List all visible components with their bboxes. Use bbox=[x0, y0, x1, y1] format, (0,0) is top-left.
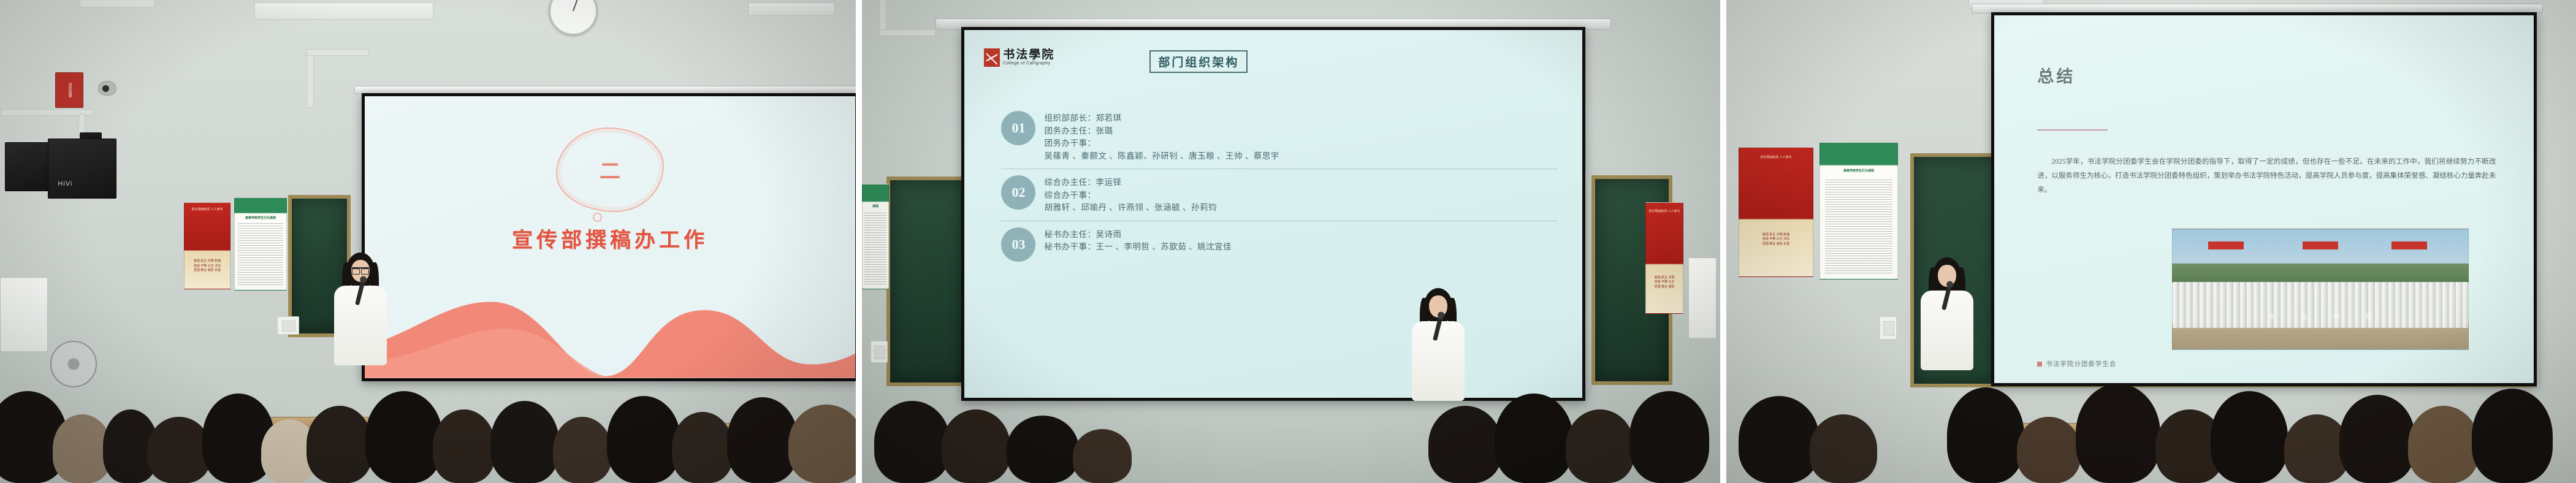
section-lines: 综合办主任：李运铎 综合办干事： 胡雅轩 、邱瑜丹 、许燕翎 、张涵毓 、孙莉钧 bbox=[1044, 175, 1557, 215]
poster-student-code: 高等学校学生行为准则 bbox=[1820, 142, 1898, 280]
org-section-03: 03 秘书办主任：吴诗雨 秘书办干事：王一 、李明哲 、苏歆茹 、姚沈宜佳 bbox=[1001, 227, 1557, 262]
audience-head bbox=[2017, 417, 2081, 483]
audience-head bbox=[942, 409, 1010, 483]
projection-screen-frame: 二 宣传部撰稿办工作 bbox=[362, 93, 856, 381]
bubble-tail bbox=[593, 213, 602, 222]
section-number: 02 bbox=[1001, 175, 1035, 210]
audience-head bbox=[553, 417, 612, 483]
light-switch bbox=[1880, 316, 1897, 340]
fire-alarm-box: 消防报警 bbox=[55, 72, 83, 108]
section-line: 综合办干事： bbox=[1044, 189, 1557, 202]
photo-triptych: 消防报警 HiVi 讲文明树新风 人人参与 社会主义 富强 民主 文明 和谐自由… bbox=[0, 0, 2576, 483]
wall-speaker-hivi: HiVi bbox=[48, 139, 116, 199]
slide-3: 总结 2025学年，书法学院分团委学生会在学院分团委的指导下，取得了一定的成绩，… bbox=[1994, 15, 2534, 383]
audience-head bbox=[2472, 389, 2553, 483]
poster-student-code: 准则 bbox=[862, 184, 889, 289]
poster-body bbox=[1825, 180, 1893, 273]
panel-center: 准则 讲文明树新风 人人参与 社会主义 富强 民主 文明自由 平等 公正爱国 敬… bbox=[862, 0, 1720, 483]
poster-heading: 准则 bbox=[863, 204, 888, 208]
audience-head bbox=[2211, 391, 2288, 483]
section-line: 综合办主任：李运铎 bbox=[1044, 177, 1557, 189]
section-lines: 组织部部长：郑若琪 团务办主任：张璐 团务办干事： 吴篠青 、秦颢文 、陈鑫颖、… bbox=[1044, 111, 1557, 162]
audience-head bbox=[727, 397, 798, 483]
poster-values: 富强 民主 文明 和谐自由 平等 公正 法治爱国 敬业 诚信 友善 bbox=[185, 259, 230, 273]
poster-top-text: 讲文明树新风 人人参与 bbox=[1739, 156, 1813, 159]
presenter-panel-1 bbox=[324, 253, 397, 375]
slide-title: 部门组织架构 bbox=[1149, 50, 1248, 73]
poster-heading: 高等学校学生行为准则 bbox=[235, 216, 286, 220]
photo-banner bbox=[2208, 241, 2244, 250]
audience-head bbox=[1566, 409, 1634, 483]
logo-name-en: College of Calligraphy bbox=[1003, 61, 1054, 66]
speaker-brand-label: HiVi bbox=[58, 180, 72, 188]
poster-top-text: 讲文明树新风 人人参与 bbox=[185, 208, 230, 211]
section-line: 吴篠青 、秦颢文 、陈鑫颖、孙研钊 、唐玉粮 、王帅 、蔡思宇 bbox=[1044, 150, 1557, 163]
projection-screen: 书法學院 College of Calligraphy 部门组织架构 01 组织… bbox=[964, 30, 1582, 398]
section-line: 组织部部长：郑若琪 bbox=[1044, 112, 1557, 125]
poster-body bbox=[238, 223, 283, 287]
audience-head bbox=[2076, 384, 2160, 483]
security-camera-icon bbox=[98, 81, 116, 96]
ceiling-light bbox=[254, 2, 433, 20]
section-lines: 秘书办主任：吴诗雨 秘书办干事：王一 、李明哲 、苏歆茹 、姚沈宜佳 bbox=[1044, 227, 1557, 254]
audience-head bbox=[433, 409, 495, 483]
poster-student-code: 高等学校学生行为准则 bbox=[234, 197, 287, 291]
audience-head bbox=[1495, 394, 1573, 483]
ceiling-light bbox=[748, 2, 835, 16]
audience-head bbox=[147, 417, 211, 483]
photo-banner bbox=[2391, 241, 2427, 250]
wall-conduit bbox=[307, 50, 314, 108]
wave-graphic bbox=[365, 276, 855, 378]
wall-fan bbox=[50, 341, 97, 387]
college-logo: 书法學院 College of Calligraphy bbox=[984, 48, 1054, 67]
light-switch bbox=[277, 316, 299, 335]
section-divider bbox=[1001, 169, 1557, 169]
group-photo: 书法学院 bbox=[2172, 229, 2469, 350]
light-switch bbox=[871, 341, 888, 363]
title-underline bbox=[2037, 129, 2107, 131]
chalkboard-left bbox=[886, 177, 971, 386]
noticeboard bbox=[0, 277, 48, 352]
presenter-panel-2 bbox=[1401, 288, 1475, 411]
glasses-icon bbox=[352, 267, 369, 273]
noticeboard bbox=[1688, 257, 1717, 338]
audience-head bbox=[365, 391, 443, 483]
section-line: 秘书办主任：吴诗雨 bbox=[1044, 229, 1557, 241]
section-line: 团务办主任：张璐 bbox=[1044, 125, 1557, 138]
poster-core-values: 讲文明树新风 人人参与 社会主义 富强 民主 文明 和谐自由 平等 公正 法治爱… bbox=[184, 202, 231, 289]
panel-left: 消防报警 HiVi 讲文明树新风 人人参与 社会主义 富强 民主 文明 和谐自由… bbox=[0, 0, 856, 483]
audience-head bbox=[2408, 406, 2479, 483]
audience-head bbox=[1073, 429, 1132, 483]
projection-screen-frame: 书法學院 College of Calligraphy 部门组织架构 01 组织… bbox=[961, 27, 1585, 401]
cloud-bubble-icon: 二 bbox=[556, 127, 664, 212]
org-section-01: 01 组织部部长：郑若琪 团务办主任：张璐 团务办干事： 吴篠青 、秦颢文 、陈… bbox=[1001, 111, 1557, 162]
audience-head bbox=[307, 406, 373, 483]
poster-heading: 高等学校学生行为准则 bbox=[1820, 169, 1897, 173]
poster-values: 富强 民主 文明自由 平等 公正爱国 敬业 诚信 bbox=[1646, 276, 1683, 290]
audience-head bbox=[2339, 395, 2415, 483]
audience-head bbox=[874, 401, 950, 483]
section-line: 胡雅轩 、邱瑜丹 、许燕翎 、张涵毓 、孙莉钧 bbox=[1044, 202, 1557, 215]
section-divider bbox=[1001, 221, 1557, 221]
projection-screen: 二 宣传部撰稿办工作 bbox=[365, 96, 855, 378]
audience-head bbox=[1007, 416, 1079, 483]
slide-title: 宣传部撰稿办工作 bbox=[384, 223, 836, 253]
poster-top-text: 讲文明树新风 人人参与 bbox=[1646, 210, 1683, 213]
section-number: 01 bbox=[1001, 111, 1035, 145]
panel-right: 讲文明树新风 人人参与 社会主义核心价值观 富强 民主 文明 和谐自由 平等 公… bbox=[1726, 0, 2576, 483]
section-line: 秘书办干事：王一 、李明哲 、苏歆茹 、姚沈宜佳 bbox=[1044, 241, 1557, 254]
audience-head bbox=[1947, 387, 2024, 483]
logo-name-cn: 书法學院 bbox=[1003, 49, 1054, 61]
section-number: 03 bbox=[1001, 227, 1035, 262]
audience-head bbox=[788, 405, 856, 483]
photo-caption: 书法学院 bbox=[2255, 308, 2385, 325]
wall-conduit bbox=[879, 29, 936, 36]
slide-badge-number: 二 bbox=[556, 127, 664, 212]
poster-heading: 社会主义核心价值观 bbox=[1739, 208, 1813, 218]
audience-head bbox=[1739, 396, 1820, 483]
wall-conduit bbox=[307, 49, 369, 56]
footer-marker-icon bbox=[2037, 362, 2042, 367]
poster-heading: 社会主义 bbox=[1646, 255, 1683, 260]
audience-head bbox=[490, 401, 559, 483]
poster-core-values: 讲文明树新风 人人参与 社会主义 富强 民主 文明自由 平等 公正爱国 敬业 诚… bbox=[1645, 202, 1683, 314]
audience-head bbox=[1810, 414, 1877, 483]
poster-body bbox=[864, 213, 887, 284]
audience-head bbox=[672, 412, 733, 483]
ceiling-panel bbox=[80, 0, 154, 7]
slide-title: 总结 bbox=[2037, 63, 2075, 87]
wall-speaker bbox=[5, 142, 50, 191]
org-section-02: 02 综合办主任：李运铎 综合办干事： 胡雅轩 、邱瑜丹 、许燕翎 、张涵毓 、… bbox=[1001, 175, 1557, 215]
presenter-panel-3 bbox=[1910, 257, 1984, 386]
poster-heading: 社会主义 bbox=[185, 243, 230, 248]
slide-2: 书法學院 College of Calligraphy 部门组织架构 01 组织… bbox=[964, 30, 1582, 398]
audience-head bbox=[1428, 406, 1502, 483]
slide-1: 二 宣传部撰稿办工作 bbox=[365, 96, 855, 378]
photo-banner bbox=[2303, 241, 2338, 250]
poster-core-values: 讲文明树新风 人人参与 社会主义核心价值观 富强 民主 文明 和谐自由 平等 公… bbox=[1739, 147, 1813, 277]
projection-screen: 总结 2025学年，书法学院分团委学生会在学院分团委的指导下，取得了一定的成绩，… bbox=[1994, 15, 2534, 383]
logo-text: 书法學院 College of Calligraphy bbox=[1003, 49, 1054, 66]
poster-values: 富强 民主 文明 和谐自由 平等 公正 法治爱国 敬业 诚信 友善 bbox=[1739, 233, 1813, 247]
section-line: 团务办干事： bbox=[1044, 137, 1557, 150]
slide-body-text: 2025学年，书法学院分团委学生会在学院分团委的指导下，取得了一定的成绩，但也存… bbox=[2037, 155, 2496, 197]
fire-alarm-label: 消防报警 bbox=[56, 73, 83, 107]
audience-head bbox=[1629, 391, 1709, 483]
audience-head bbox=[607, 396, 680, 483]
logo-mark-icon bbox=[984, 48, 1000, 67]
projection-screen-frame: 总结 2025学年，书法学院分团委学生会在学院分团委的指导下，取得了一定的成绩，… bbox=[1991, 12, 2537, 386]
footer-text: 书法学院分团委学生会 bbox=[2046, 359, 2116, 368]
slide-footer: 书法学院分团委学生会 bbox=[2037, 359, 2116, 368]
